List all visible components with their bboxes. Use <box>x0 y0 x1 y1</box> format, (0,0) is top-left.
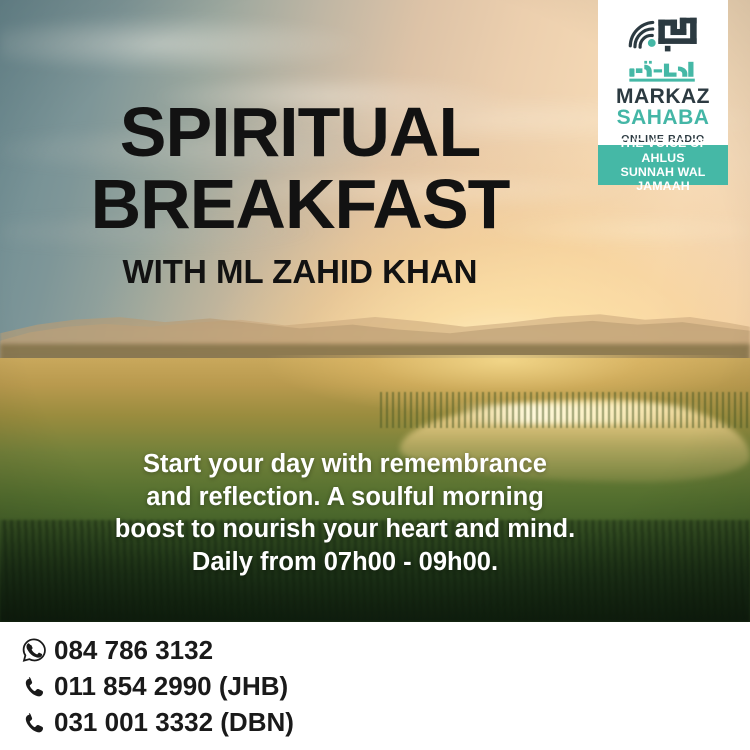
footer-bar: 084 786 3132 011 854 2990 (JHB) 031 001 … <box>0 622 750 750</box>
body-copy-line-1: Start your day with remembrance <box>60 448 630 481</box>
body-copy-line-4: Daily from 07h00 - 09h00. <box>60 546 630 579</box>
tagline-line-1: THE VOICE OF AHLUS <box>598 136 728 165</box>
headline-line-1: SPIRITUAL <box>0 100 600 166</box>
poster: SPIRITUAL BREAKFAST WITH ML ZAHID KHAN S… <box>0 0 750 750</box>
phone-icon <box>18 671 50 701</box>
contact-row-dbn[interactable]: 031 001 3332 (DBN) <box>18 704 294 740</box>
phone-icon <box>18 707 50 737</box>
contact-number-jhb: 011 854 2990 (JHB) <box>54 671 288 702</box>
brand-logo-card: MARKAZ SAHABA ONLINE RADIO <box>598 0 728 145</box>
body-copy-line-2: and reflection. A soulful morning <box>60 481 630 514</box>
contact-number-dbn: 031 001 3332 (DBN) <box>54 707 294 738</box>
body-copy-block: Start your day with remembrance and refl… <box>60 448 630 579</box>
contact-row-whatsapp[interactable]: 084 786 3132 <box>18 632 294 668</box>
tagline-line-2: SUNNAH WAL JAMAAH <box>598 165 728 194</box>
contact-number-whatsapp: 084 786 3132 <box>54 635 213 666</box>
headline-block: SPIRITUAL BREAKFAST WITH ML ZAHID KHAN <box>0 100 600 287</box>
brand-name-markaz: MARKAZ <box>616 86 710 107</box>
body-copy-line-3: boost to nourish your heart and mind. <box>60 513 630 546</box>
contact-row-jhb[interactable]: 011 854 2990 (JHB) <box>18 668 294 704</box>
whatsapp-icon <box>18 635 50 665</box>
headline-subline: WITH ML ZAHID KHAN <box>0 256 600 287</box>
contact-list: 084 786 3132 011 854 2990 (JHB) 031 001 … <box>18 632 294 740</box>
brand-tagline-banner: THE VOICE OF AHLUS SUNNAH WAL JAMAAH <box>598 145 728 185</box>
brand-name-sahaba: SAHABA <box>617 107 710 130</box>
arabic-sahaba-script-icon <box>624 59 702 83</box>
wifi-arabic-calligraphy-icon <box>622 14 704 57</box>
reed-grass-band <box>380 392 750 428</box>
headline-line-2: BREAKFAST <box>0 172 600 238</box>
